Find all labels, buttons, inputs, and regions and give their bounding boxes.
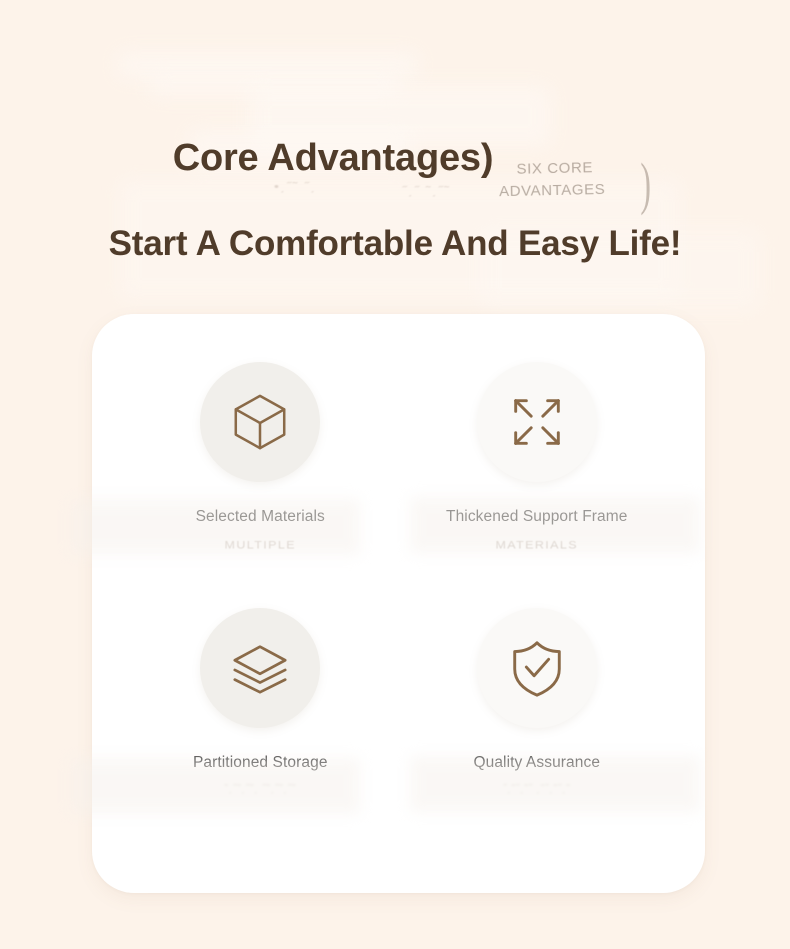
- ghost-scribble-left: •͵˝˜ ˝͵: [274, 180, 317, 193]
- feature-item-selected-materials[interactable]: Selected Materials MULTIPLE: [122, 362, 399, 608]
- features-grid: Selected Materials MULTIPLE: [92, 314, 705, 893]
- feature-label: Selected Materials: [196, 508, 325, 527]
- cube-icon: [229, 391, 291, 453]
- feature-ghost-text: ˜͵˝˜͵˝˜͵ ˝˜͵˝˜͵˝˜: [224, 784, 296, 795]
- layers-icon: [229, 637, 291, 699]
- icon-circle: [477, 362, 597, 482]
- feature-label: Thickened Support Frame: [446, 508, 628, 527]
- features-panel: Selected Materials MULTIPLE: [92, 314, 705, 893]
- feature-ghost-text: ˝͵˜˝͵˜˝ ͵˜˝͵˜˝͵˜: [503, 784, 571, 795]
- icon-circle: [200, 608, 320, 728]
- page-subtitle: Start A Comfortable And Easy Life!: [0, 224, 790, 264]
- icon-circle: [200, 362, 320, 482]
- icon-circle: [477, 608, 597, 728]
- feature-ghost-text: MULTIPLE: [225, 538, 296, 551]
- feature-ghost-text: MATERIALS: [495, 538, 578, 551]
- feature-item-thickened-support-frame[interactable]: Thickened Support Frame MATERIALS: [399, 362, 676, 608]
- heading-area: •͵˝˜ ˝͵ ˝͵˝ ˜͵˝˜ SIX CORE ADVANTAGES ) C…: [0, 0, 790, 300]
- shield-check-icon: [506, 637, 568, 699]
- feature-item-quality-assurance[interactable]: Quality Assurance ˝͵˜˝͵˜˝ ͵˜˝͵˜˝͵˜: [399, 608, 676, 854]
- feature-label: Partitioned Storage: [193, 754, 328, 773]
- page-title: Core Advantages): [0, 137, 728, 180]
- feature-label: Quality Assurance: [473, 754, 600, 773]
- feature-item-partitioned-storage[interactable]: Partitioned Storage ˜͵˝˜͵˝˜͵ ˝˜͵˝˜͵˝˜: [122, 608, 399, 854]
- expand-arrows-icon: [506, 391, 568, 453]
